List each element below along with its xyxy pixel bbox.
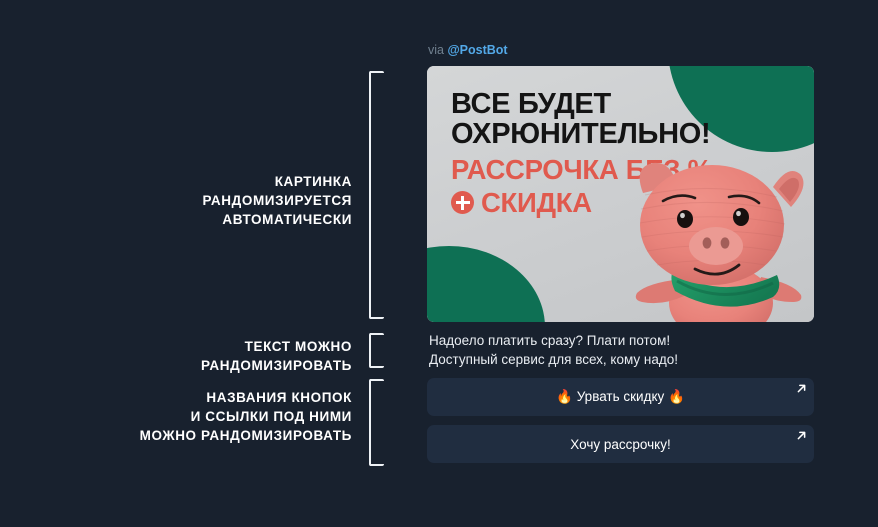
message-image[interactable]: ВСЕ БУДЕТ ОХРЮНИТЕЛЬНО! РАССРОЧКА БЕЗ % … [427, 66, 814, 322]
via-bot-handle[interactable]: @PostBot [447, 43, 507, 57]
inline-button-discount[interactable]: 🔥 Урвать скидку 🔥 [427, 378, 814, 416]
external-link-arrow-icon [796, 383, 807, 394]
via-label: via [428, 43, 444, 57]
annotation-text-randomizable-text: ТЕКСТ МОЖНО РАНДОМИЗИРОВАТЬ [201, 337, 352, 375]
screenshot-root: КАРТИНКА РАНДОМИЗИРУЕТСЯ АВТОМАТИЧЕСКИ Т… [0, 0, 878, 527]
inline-button-installment-label: Хочу рассрочку! [570, 437, 670, 452]
bracket-image-region [369, 71, 384, 319]
image-headline-line2: ОХРЮНИТЕЛЬНО! [451, 118, 710, 151]
annotation-buttons-randomizable-text: НАЗВАНИЯ КНОПОК И ССЫЛКИ ПОД НИМИ МОЖНО … [140, 388, 352, 445]
bracket-buttons-region [369, 379, 384, 466]
message-caption: Надоело платить сразу? Плати потом! Дост… [427, 331, 814, 369]
message-bubble: via @PostBot ВСЕ БУДЕТ ОХРЮНИТЕЛЬНО! РАС… [427, 42, 814, 463]
crochet-pig-toy-illustration [603, 153, 808, 322]
annotation-image-randomized-text: КАРТИНКА РАНДОМИЗИРУЕТСЯ АВТОМАТИЧЕСКИ [203, 172, 352, 229]
image-headline-line1: ВСЕ БУДЕТ [451, 88, 611, 121]
image-subheadline-line2: СКИДКА [451, 187, 592, 219]
bracket-caption-region [369, 333, 384, 368]
via-line: via @PostBot [427, 42, 814, 58]
external-link-arrow-icon [796, 430, 807, 441]
inline-button-discount-label: 🔥 Урвать скидку 🔥 [556, 389, 685, 405]
inline-button-installment[interactable]: Хочу рассрочку! [427, 425, 814, 463]
